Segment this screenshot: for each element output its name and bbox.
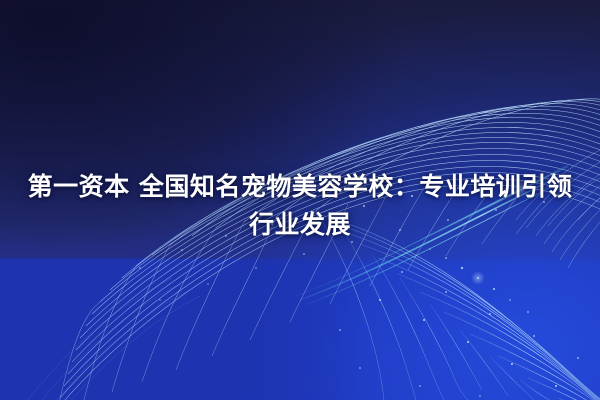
banner-title: 第一资本 全国知名宠物美容学校：专业培训引领 行业发展: [0, 168, 600, 244]
title-line-2: 行业发展: [14, 206, 586, 244]
title-line-1: 第一资本 全国知名宠物美容学校：专业培训引领: [14, 168, 586, 206]
banner-graphic: 第一资本 全国知名宠物美容学校：专业培训引领 行业发展: [0, 0, 600, 400]
